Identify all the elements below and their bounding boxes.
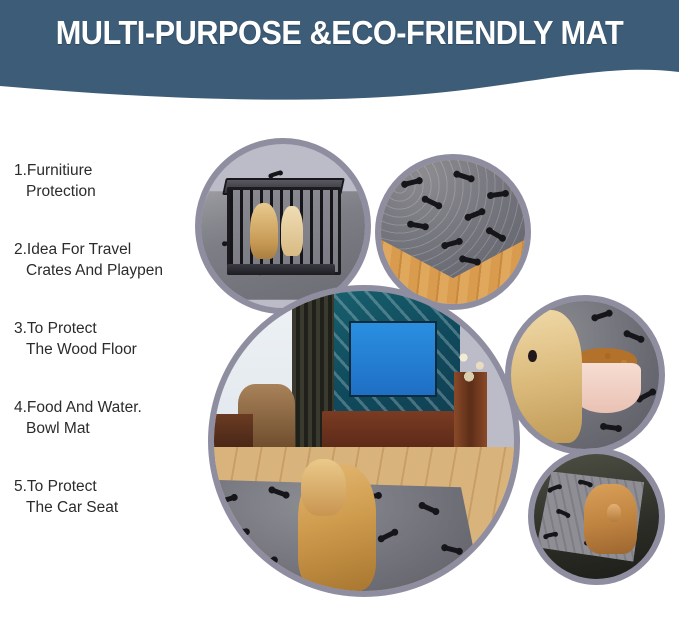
- golden-retriever-head: [301, 459, 346, 516]
- dog-nose: [528, 350, 536, 362]
- bone-icon: [271, 487, 288, 497]
- puppy: [584, 484, 637, 554]
- bone-icon: [443, 545, 460, 554]
- bone-icon: [549, 484, 561, 492]
- bone-icon: [219, 495, 236, 504]
- flower-vase: [442, 336, 496, 390]
- television: [349, 321, 437, 397]
- bone-icon: [230, 527, 247, 535]
- page-title: MULTI-PURPOSE &ECO-FRIENDLY MAT: [24, 14, 655, 52]
- puppy-face: [607, 504, 621, 522]
- bone-icon: [380, 530, 397, 542]
- photo-collage: [0, 118, 679, 642]
- dog-in-crate-second: [281, 206, 302, 255]
- bone-icon: [558, 509, 570, 517]
- bone-icon: [420, 503, 437, 514]
- bone-icon: [545, 531, 557, 538]
- bone-icon: [490, 191, 507, 198]
- wood-floor-scene: [381, 160, 525, 304]
- bone-icon: [270, 170, 282, 177]
- food-bowl-photo: [505, 295, 665, 455]
- golden-retriever: [511, 310, 582, 443]
- bone-icon: [579, 479, 591, 486]
- car-seat-scene: [534, 454, 659, 579]
- crate-base-tray: [227, 264, 335, 275]
- dog-in-crate: [250, 203, 278, 259]
- bone-icon: [259, 558, 276, 566]
- living-room-scene: [214, 291, 514, 591]
- car-seat-photo: [528, 448, 665, 585]
- bone-icon: [415, 581, 432, 591]
- living-room-photo: [208, 285, 520, 597]
- wood-floor-photo: [375, 154, 531, 310]
- header-banner: MULTI-PURPOSE &ECO-FRIENDLY MAT: [0, 0, 679, 118]
- crate-scene: [201, 144, 365, 308]
- food-bowl-scene: [511, 301, 659, 449]
